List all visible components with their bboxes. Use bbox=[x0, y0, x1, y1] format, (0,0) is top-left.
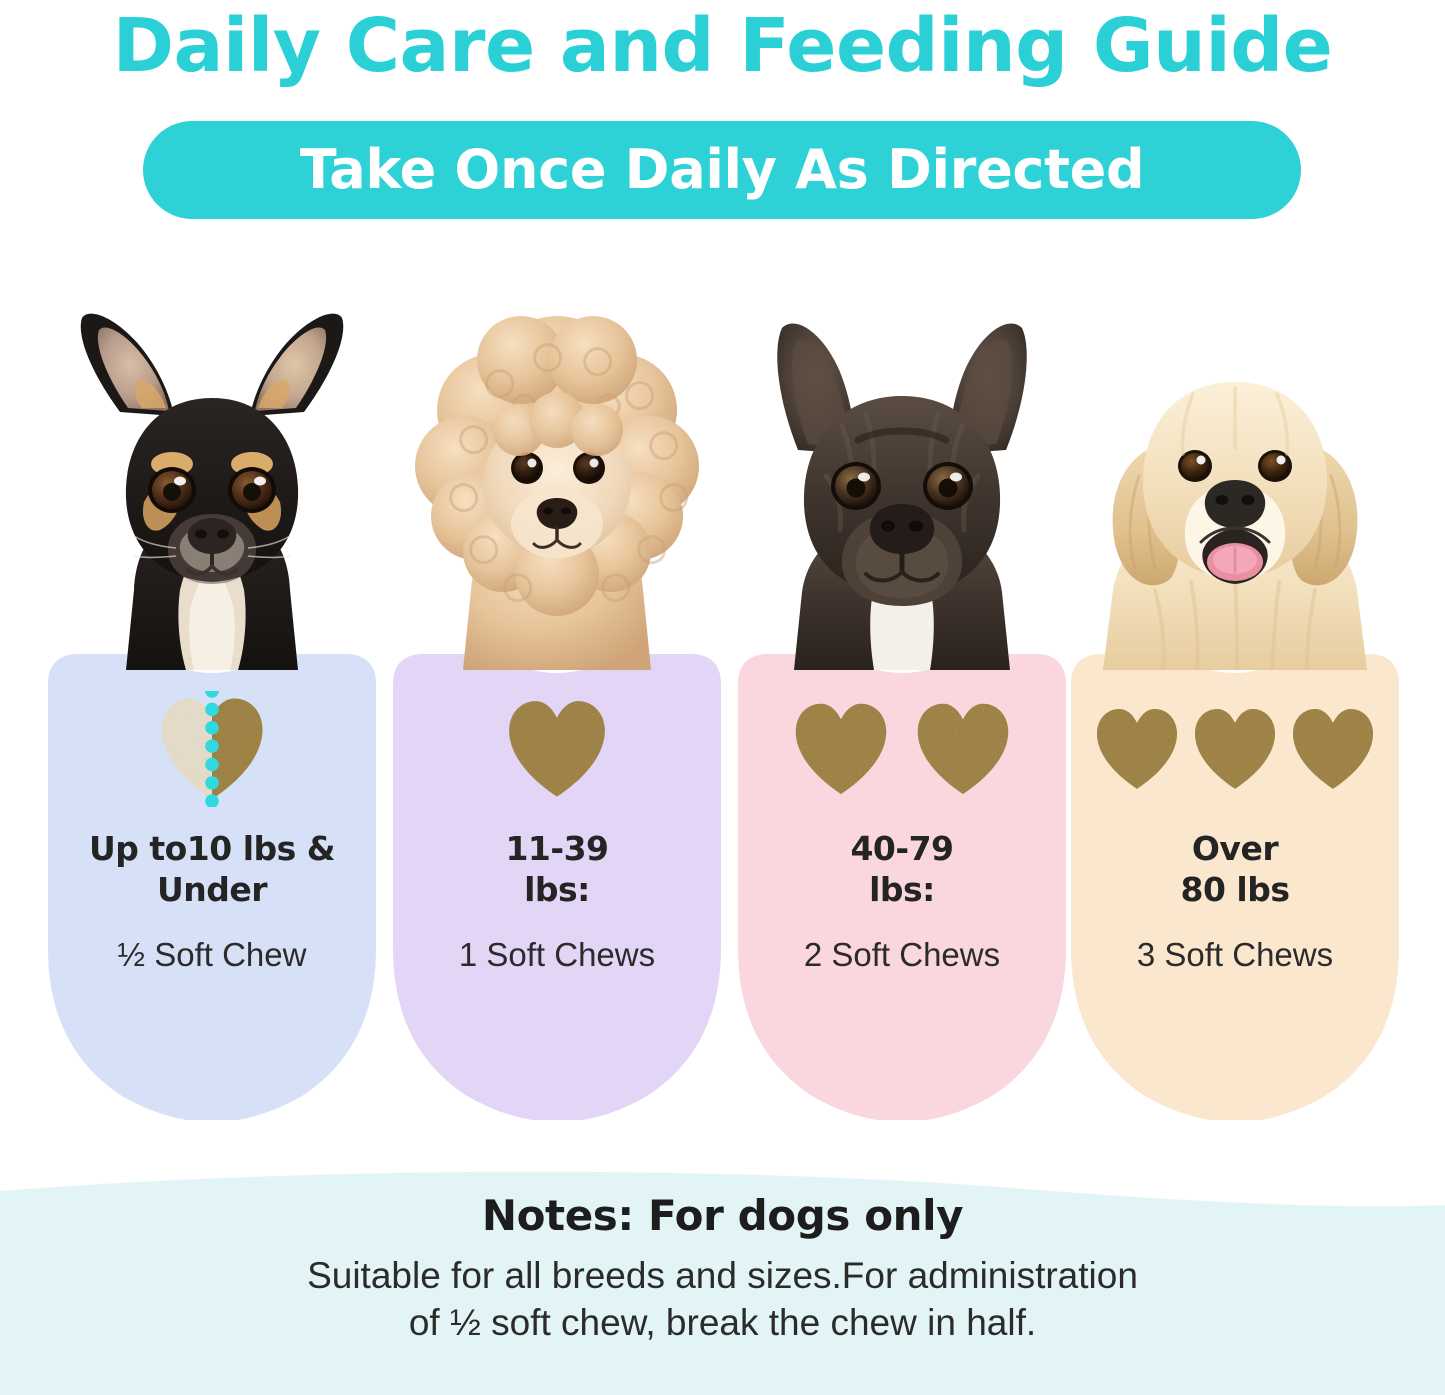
weight-range-label: 40-79 lbs: bbox=[850, 828, 953, 910]
dose-label: 3 Soft Chews bbox=[1137, 936, 1333, 974]
directions-banner: Take Once Daily As Directed bbox=[143, 121, 1301, 219]
dosage-cards: Up to10 lbs & Under ½ Soft Chew bbox=[0, 290, 1445, 1120]
chew-icons-group bbox=[789, 684, 1015, 814]
notes-body: Suitable for all breeds and sizes.For ad… bbox=[0, 1252, 1445, 1346]
notes-title: Notes: For dogs only bbox=[0, 1190, 1445, 1242]
weight-range-label: 11-39 lbs: bbox=[505, 828, 608, 910]
chew-icon bbox=[502, 694, 612, 804]
dosage-card-chihuahua: Up to10 lbs & Under ½ Soft Chew bbox=[48, 290, 376, 1120]
notes-content: Notes: For dogs only Suitable for all br… bbox=[0, 1190, 1445, 1346]
tag-content-french-bulldog: 40-79 lbs: 2 Soft Chews bbox=[738, 648, 1066, 1120]
weight-range-label: Up to10 lbs & Under bbox=[89, 828, 335, 910]
chew-icons-group bbox=[154, 684, 270, 814]
chihuahua-photo bbox=[48, 290, 376, 670]
chew-icons-group bbox=[1091, 684, 1379, 814]
chew-icon bbox=[1287, 703, 1379, 795]
weight-range-label: Over 80 lbs bbox=[1181, 828, 1290, 910]
french-bulldog-photo bbox=[738, 290, 1066, 670]
poodle-photo bbox=[393, 290, 721, 670]
chew-icon bbox=[911, 697, 1015, 801]
dosage-card-french-bulldog: 40-79 lbs: 2 Soft Chews bbox=[738, 290, 1066, 1120]
half-chew-icon bbox=[154, 691, 270, 807]
page-title: Daily Care and Feeding Guide bbox=[0, 4, 1445, 88]
dose-label: 1 Soft Chews bbox=[459, 936, 655, 974]
tag-content-chihuahua: Up to10 lbs & Under ½ Soft Chew bbox=[48, 648, 376, 1120]
dosage-card-poodle: 11-39 lbs: 1 Soft Chews bbox=[393, 290, 721, 1120]
directions-banner-label: Take Once Daily As Directed bbox=[300, 141, 1145, 199]
dose-label: 2 Soft Chews bbox=[804, 936, 1000, 974]
dosage-card-golden-retriever: Over 80 lbs 3 Soft Chews bbox=[1071, 290, 1399, 1120]
tag-content-poodle: 11-39 lbs: 1 Soft Chews bbox=[393, 648, 721, 1120]
chew-icons-group bbox=[502, 684, 612, 814]
chew-icon bbox=[1091, 703, 1183, 795]
chew-icon bbox=[1189, 703, 1281, 795]
chew-icon bbox=[789, 697, 893, 801]
feeding-guide-page: Daily Care and Feeding Guide Take Once D… bbox=[0, 0, 1445, 1395]
golden-retriever-photo bbox=[1071, 290, 1399, 670]
dose-label: ½ Soft Chew bbox=[118, 936, 307, 974]
tag-content-golden-retriever: Over 80 lbs 3 Soft Chews bbox=[1071, 648, 1399, 1120]
